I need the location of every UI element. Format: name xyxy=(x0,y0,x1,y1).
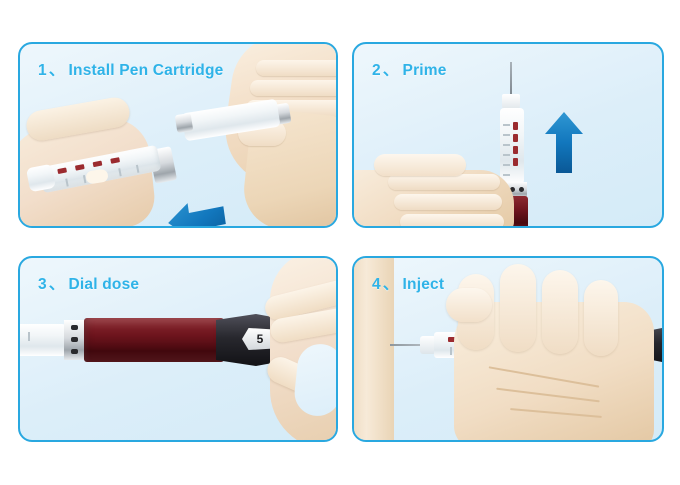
panel-2-separator: 、 xyxy=(383,62,399,79)
instruction-board: 1、Install Pen Cartridge xyxy=(0,0,680,485)
cartridge-marking xyxy=(513,146,518,154)
cartridge-scale-tick xyxy=(503,144,510,146)
cartridge-scale-tick xyxy=(503,164,510,166)
panel-3-label: Dial dose xyxy=(69,276,140,293)
cartridge-marking xyxy=(513,158,518,166)
cartridge-scale-tick xyxy=(503,124,510,126)
collar-stud xyxy=(519,187,524,192)
hand-finger xyxy=(400,214,504,226)
cartridge-tip xyxy=(175,113,194,133)
cartridge-scale-tick xyxy=(450,347,452,355)
panel-2-step-number: 2 xyxy=(372,62,381,79)
hand-finger xyxy=(584,280,618,356)
panel-2-label: Prime xyxy=(403,62,447,79)
panel-3-step-number: 3 xyxy=(38,276,47,293)
panel-1-title: 1、Install Pen Cartridge xyxy=(38,58,223,80)
pen-scale-tick xyxy=(65,179,68,187)
pen-marking xyxy=(93,161,103,168)
right-hand-finger xyxy=(250,80,336,96)
injection-needle xyxy=(390,344,424,346)
cartridge-marking xyxy=(513,134,518,142)
cartridge-marking xyxy=(513,122,518,130)
panel-4-label: Inject xyxy=(403,276,445,293)
hand-thumb xyxy=(446,288,492,322)
pen-cap xyxy=(26,164,56,193)
pen-barrel xyxy=(84,318,224,362)
collar-stud xyxy=(71,349,78,354)
palm-crease xyxy=(496,388,599,402)
panel-4-title: 4、Inject xyxy=(372,272,444,294)
hand-finger xyxy=(500,264,536,352)
right-hand-finger xyxy=(256,60,336,76)
hand-finger xyxy=(542,270,578,354)
hand-finger xyxy=(388,174,500,190)
hand-finger xyxy=(394,194,502,210)
direction-arrow-up xyxy=(544,112,584,174)
cartridge-scale-tick xyxy=(503,174,510,176)
panel-step-2: 2、Prime xyxy=(352,42,664,228)
direction-arrow-left xyxy=(165,196,228,226)
pen-marking xyxy=(75,164,85,171)
panel-4-separator: 、 xyxy=(383,276,399,293)
panel-step-1: 1、Install Pen Cartridge xyxy=(18,42,338,228)
panel-1-step-number: 1 xyxy=(38,62,47,79)
panel-2-title: 2、Prime xyxy=(372,58,447,80)
cap-tick xyxy=(28,332,30,341)
panel-step-4: 4、Inject xyxy=(352,256,664,442)
pen-cartridge xyxy=(500,108,524,184)
collar-stud xyxy=(71,325,78,330)
dose-value: 5 xyxy=(242,328,272,350)
cartridge-scale-tick xyxy=(503,134,510,136)
pen-marking xyxy=(57,167,67,174)
panel-1-separator: 、 xyxy=(49,62,65,79)
palm-crease xyxy=(510,408,602,418)
pen-collar xyxy=(64,320,86,360)
collar-stud xyxy=(71,337,78,342)
panel-step-3: 5 3、Dial dose xyxy=(18,256,338,442)
pen-marking xyxy=(110,157,120,164)
pen-scale-tick xyxy=(136,165,139,173)
palm-crease xyxy=(489,366,600,387)
panel-3-title: 3、Dial dose xyxy=(38,272,139,294)
panel-4-step-number: 4 xyxy=(372,276,381,293)
pen-cap xyxy=(20,324,66,356)
panel-3-separator: 、 xyxy=(49,276,65,293)
panel-1-label: Install Pen Cartridge xyxy=(69,62,224,79)
cartridge-scale-tick xyxy=(503,154,510,156)
injection-needle xyxy=(510,62,512,96)
hand-thumb xyxy=(374,154,466,176)
pen-scale-tick xyxy=(118,168,121,176)
